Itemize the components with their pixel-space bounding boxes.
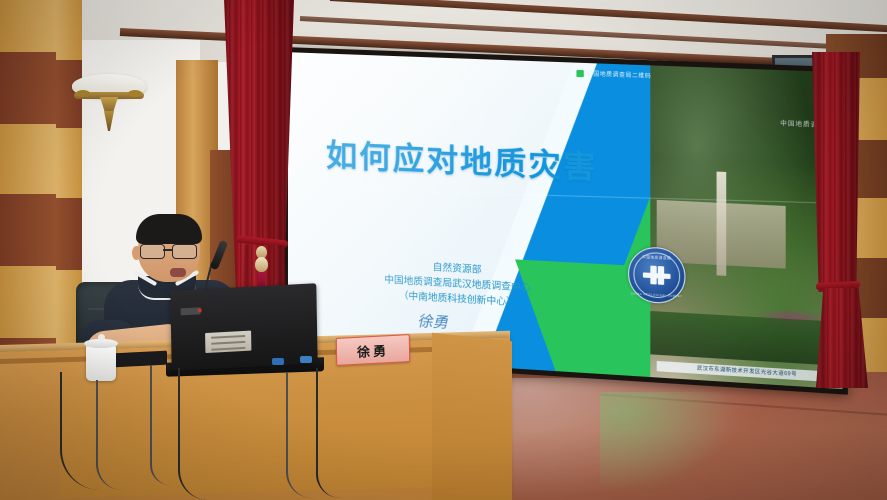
presenter-hair [136,214,202,244]
slide-photo: 中国地质调查局 武汉市东湖新技术开发区光谷大道69号 [650,65,842,389]
screenshot-scene: 中国地质调查局 武汉市东湖新技术开发区光谷大道69号 中国地质调查局二维码 如何… [0,0,887,500]
cable-connector [272,358,284,365]
nameplate-text: 徐勇 [357,340,389,361]
lamp-scroll-right [128,90,142,97]
photo-monument [717,172,727,276]
lamp-scroll-left [76,90,90,97]
slide-signature: 徐勇 [417,310,448,333]
cable [178,368,208,500]
presenter-mouth [170,268,186,277]
cable [316,368,340,498]
cable [60,372,100,490]
mug-lid-knob [98,334,105,341]
wall-sconce-lamp [72,70,146,132]
cable [286,372,312,498]
laptop-logo-dot-icon [198,308,202,312]
cable-connector [300,356,312,363]
laptop-lid[interactable] [170,283,317,371]
lamp-bracket [100,97,118,113]
floor-screen-reflection [600,392,730,492]
lamp-stem [104,111,114,131]
curtain-right [812,52,860,292]
tag-square-icon [576,69,583,76]
wall-panel-column-left [0,0,56,400]
nameplate: 徐勇 [336,334,410,366]
laptop-asset-label [205,331,251,353]
presenter-glasses [140,244,200,257]
cable [96,380,126,490]
podium-side-panel [432,333,512,500]
cable [150,365,170,485]
